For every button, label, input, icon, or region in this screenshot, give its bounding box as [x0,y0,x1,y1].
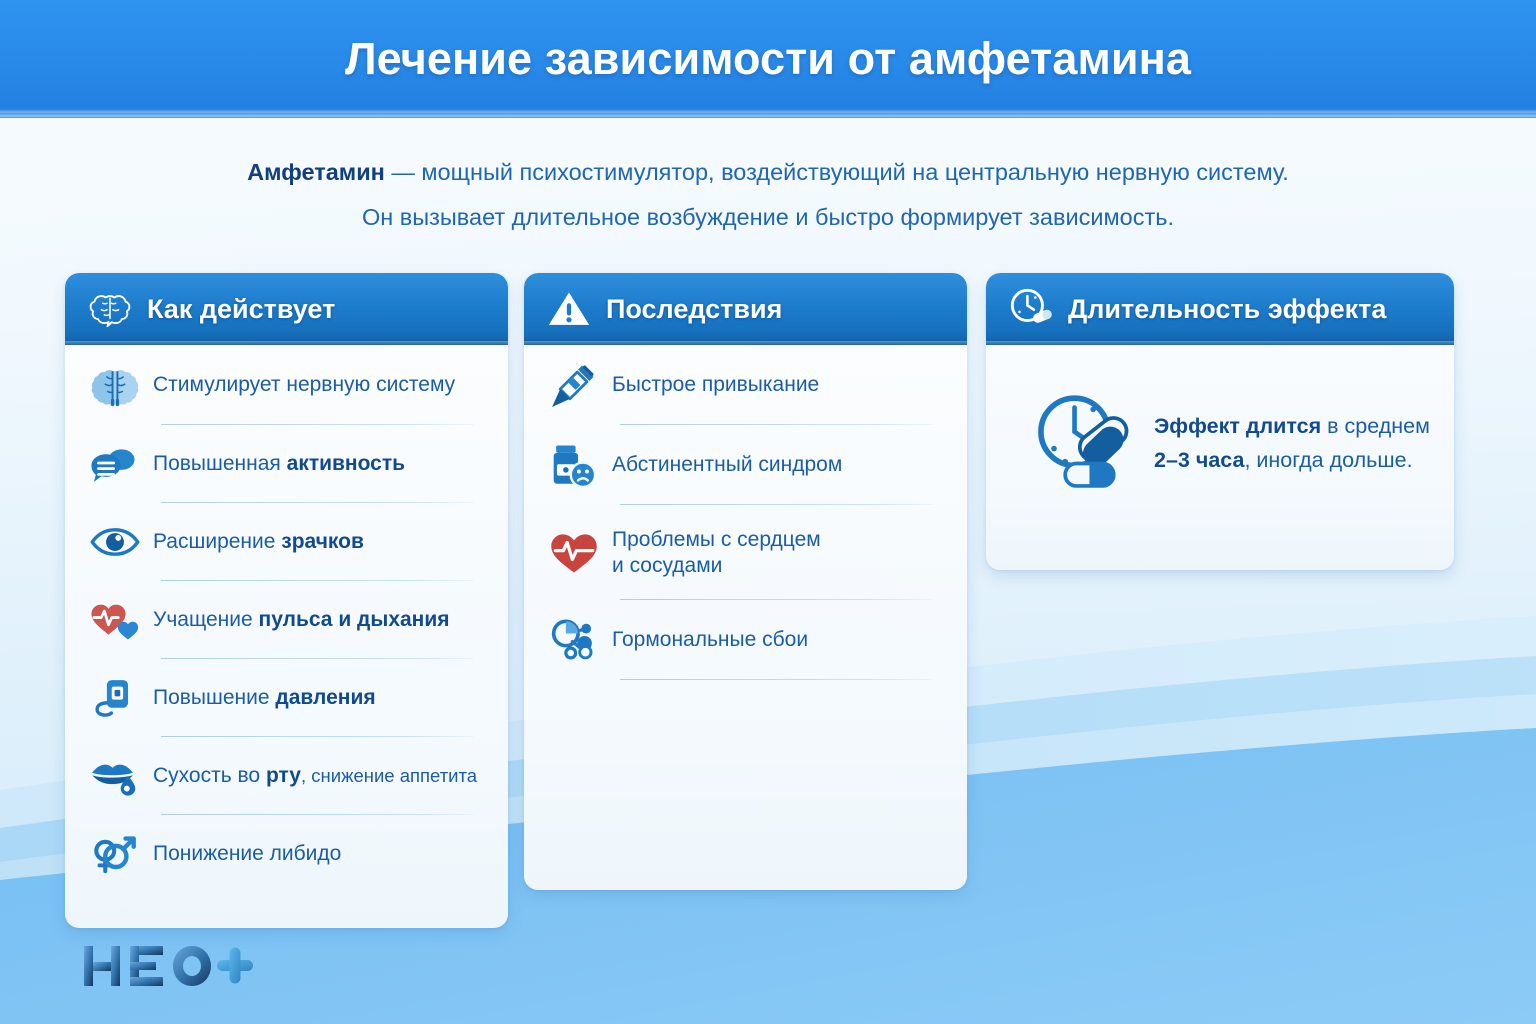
label-pre: Сухость во [153,764,266,787]
list-item: Повышенная активность [65,425,488,503]
brand-logo [80,938,260,994]
red-heart-pulse-icon [546,527,602,579]
label-bold: активность [287,452,405,475]
syringe-icon [546,359,602,411]
list-item: Стимулирует нервную систему [65,345,488,425]
intro-line-2: Он вызывает длительное возбуждение и быс… [0,195,1536,240]
label-pre: Повышение [153,686,275,709]
list-item-label: Абстинентный синдром [612,452,842,478]
pill-bottle-sad-face-icon [546,439,602,491]
warning-triangle-icon [546,286,592,332]
card-how-it-works: Как действует Стимулирует нервную систем… [65,273,508,928]
page-title: Лечение зависимости от амфетамина [0,0,1536,118]
card-effect-duration: Длительность эффекта Эффект длится в сре… [986,273,1454,570]
label-bold: рту [266,764,301,787]
card3-body: Эффект длится в среднем 2–3 часа, иногда… [986,345,1454,499]
infographic-page: Лечение зависимости от амфетамина Амфета… [0,0,1536,1024]
list-item-label: Проблемы с сердцем и сосудами [612,527,821,579]
card3-description: Эффект длится в среднем 2–3 часа, иногда… [1154,409,1430,477]
blood-pressure-monitor-icon [87,672,143,724]
label-bold: давления [275,686,375,709]
label-bold: зрачков [281,530,364,553]
list-item: Проблемы с сердцем и сосудами [524,505,947,600]
list-item-label: Быстрое привыкание [612,372,819,398]
label-pre: Расширение [153,530,281,553]
intro-block: Амфетамин — мощный психостимулятор, возд… [0,150,1536,240]
list-item-label: Стимулирует нервную систему [153,372,455,398]
brain-icon [87,286,133,332]
card1-body: Стимулирует нервную систему Повышенная а… [65,345,508,893]
list-item-label: Учащение пульса и дыхания [153,607,450,633]
card-consequences: Последствия Быстрое привыкание [524,273,967,890]
desc-bold-1: Эффект длится [1154,414,1321,438]
eye-icon [87,516,143,568]
list-item-label: Расширение зрачков [153,529,364,555]
list-item: Учащение пульса и дыхания [65,581,488,659]
molecule-icon [546,614,602,666]
clock-pills-icon [1008,286,1054,332]
card1-title: Как действует [147,294,335,325]
list-item-label: Гормональные сбои [612,627,808,653]
speech-bubble-icon [87,438,143,490]
list-item: Повышение давления [65,659,488,737]
list-item: Быстрое привыкание [524,345,947,425]
list-item-label: Повышенная активность [153,451,405,477]
label-post: , снижение аппетита [301,765,477,786]
lips-drop-icon [87,750,143,802]
intro-line-1-rest: — мощный психостимулятор, воздействующий… [385,159,1289,185]
list-item-label: Понижение либидо [153,841,341,867]
desc-rest-2: , иногда дольше. [1244,448,1412,472]
list-item: Гормональные сбои [524,600,947,680]
clock-pills-large-icon [1026,387,1138,499]
list-item: Понижение либидо [65,815,488,893]
label-pre: Повышенная [153,452,287,475]
card3-title: Длительность эффекта [1068,294,1386,325]
list-item-label: Сухость во рту, снижение аппетита [153,763,477,789]
label-line2: и сосудами [612,554,722,577]
list-item: Расширение зрачков [65,503,488,581]
intro-line-1: Амфетамин — мощный психостимулятор, возд… [0,150,1536,195]
label-bold: пульса и дыхания [259,608,450,631]
card2-body: Быстрое привыкание Абстинентный синдром [524,345,967,680]
list-item: Абстинентный синдром [524,425,947,505]
heart-pulse-icon [87,594,143,646]
label-line1: Проблемы с сердцем [612,528,821,551]
brain-icon [87,359,143,411]
label-pre: Учащение [153,608,259,631]
card3-header: Длительность эффекта [986,273,1454,345]
list-item-label: Повышение давления [153,685,376,711]
divider [620,679,933,680]
gender-symbols-icon [87,828,143,880]
intro-term: Амфетамин [247,159,385,185]
desc-rest-1: в среднем [1321,414,1430,438]
card2-header: Последствия [524,273,967,345]
page-header: Лечение зависимости от амфетамина [0,0,1536,118]
card1-header: Как действует [65,273,508,345]
list-item: Сухость во рту, снижение аппетита [65,737,488,815]
desc-bold-2: 2–3 часа [1154,448,1244,472]
neo-plus-logo-icon [80,938,260,994]
card2-title: Последствия [606,294,782,325]
